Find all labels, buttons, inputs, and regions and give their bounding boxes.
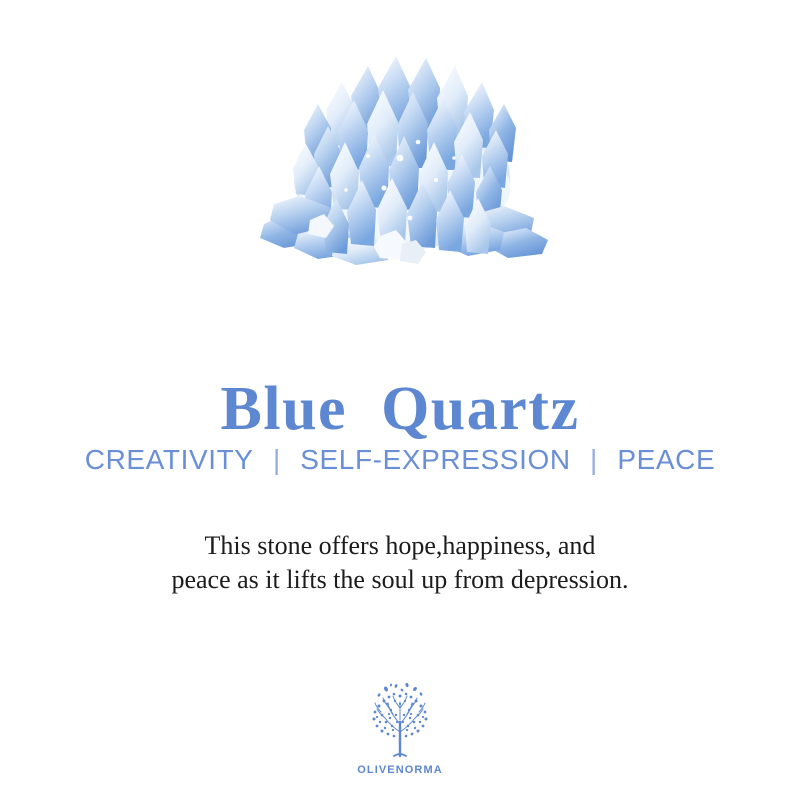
keyword-list: CREATIVITY | SELF-EXPRESSION | PEACE [0,443,800,477]
brand-logo: OLIVENORMA [0,682,800,777]
keyword-separator: | [262,443,292,477]
keyword-self-expression: SELF-EXPRESSION [300,443,570,477]
blue-quartz-crystal-cluster-icon [250,38,550,273]
keyword-creativity: CREATIVITY [85,443,254,477]
description-line-2: peace as it lifts the soul up from depre… [0,563,800,597]
olivenorma-tree-logo-icon [363,682,437,762]
keyword-separator: | [579,443,609,477]
brand-name: OLIVENORMA [357,764,443,777]
description-text: This stone offers hope,happiness, and pe… [0,529,800,597]
description-line-1: This stone offers hope,happiness, and [0,529,800,563]
crystal-image [0,38,800,273]
keyword-peace: PEACE [617,443,715,477]
blue-quartz-card: Blue Quartz CREATIVITY | SELF-EXPRESSION… [0,0,800,800]
page-title: Blue Quartz [0,374,800,444]
